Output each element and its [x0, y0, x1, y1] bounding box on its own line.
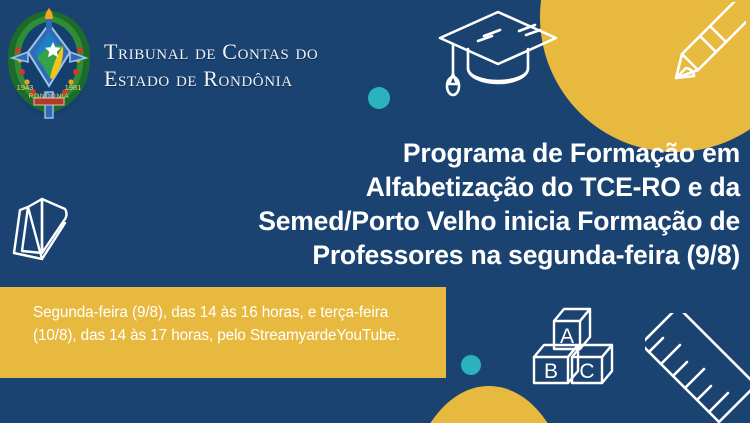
schedule-callout-text: Segunda-feira (9/8), das 14 às 16 horas,… [33, 301, 412, 348]
tce-ro-coat-of-arms-icon: 1943 1981 RONDÔNIA [6, 6, 92, 122]
brand-lockup: 1943 1981 RONDÔNIA Tribunal de Contas do… [6, 6, 318, 122]
headline-line-4: Professores na segunda-feira (9/8) [150, 238, 740, 272]
yellow-bottom-dome [408, 386, 570, 423]
teal-dot-bottom [461, 355, 481, 375]
block-letter-b: B [544, 360, 558, 383]
schedule-callout-box: Segunda-feira (9/8), das 14 às 16 horas,… [0, 287, 446, 378]
emblem-year-right: 1981 [65, 83, 82, 92]
graduation-cap-icon [423, 0, 573, 98]
headline-line-3: Semed/Porto Velho inicia Formação de [150, 204, 740, 238]
organization-name: Tribunal de Contas do Estado de Rondônia [104, 39, 318, 93]
block-letter-a: A [560, 325, 574, 348]
teal-dot-top [368, 87, 390, 109]
emblem-state-label: RONDÔNIA [29, 91, 70, 100]
headline-line-2: Alfabetização do TCE-RO e da [150, 170, 740, 204]
block-letter-c: C [579, 360, 594, 383]
headline: Programa de Formação em Alfabetização do… [150, 136, 740, 272]
headline-line-1: Programa de Formação em [150, 136, 740, 170]
ruler-icon [645, 313, 750, 423]
abc-blocks-icon: A B C [528, 305, 626, 387]
poster-canvas: A B C [0, 0, 750, 423]
open-book-icon [8, 193, 72, 265]
emblem-year-left: 1943 [17, 83, 34, 92]
pencil-icon [648, 2, 746, 100]
